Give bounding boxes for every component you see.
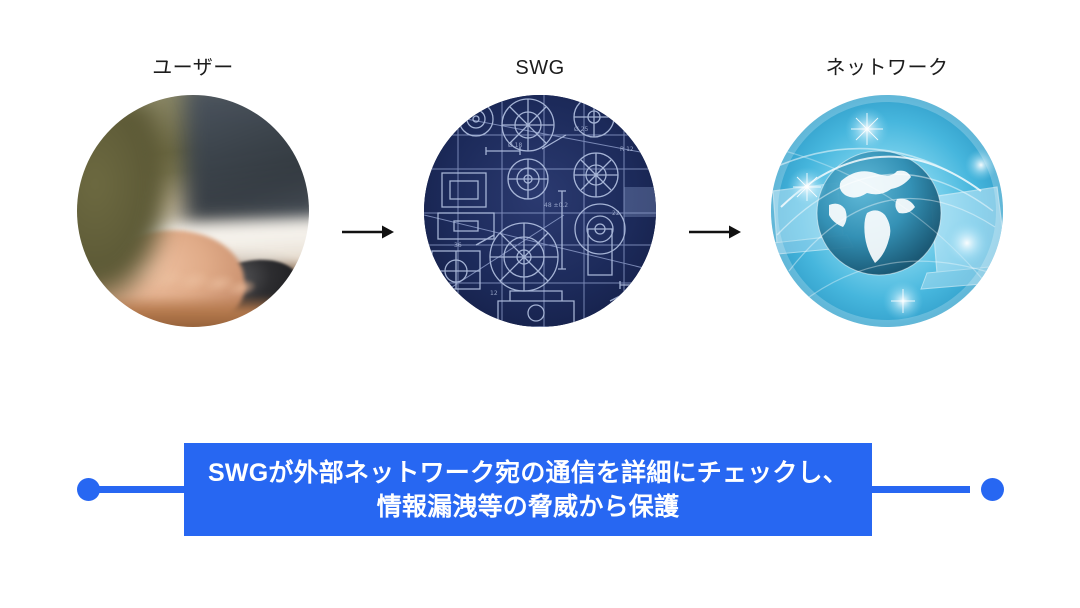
diagram-canvas: ユーザー SWG [0, 0, 1080, 608]
node-image-swg: Ø 25 Ø 18 R 12 48 ±0.2 36 22 3/2 12 [424, 95, 656, 327]
caption-banner: SWGが外部ネットワーク宛の通信を詳細にチェックし、 情報漏洩等の脅威から保護 [184, 443, 872, 536]
connector-line-left [86, 486, 190, 493]
svg-text:R 12: R 12 [620, 146, 634, 153]
flow-node-user: ユーザー [77, 56, 309, 327]
svg-text:3/2: 3/2 [608, 318, 618, 325]
image-blueprint-pattern: Ø 25 Ø 18 R 12 48 ±0.2 36 22 3/2 12 [424, 95, 656, 327]
node-image-user [77, 95, 309, 327]
svg-text:36: 36 [454, 242, 462, 249]
flow-node-swg: SWG [424, 56, 656, 327]
svg-text:12: 12 [490, 290, 498, 297]
caption-banner-text: SWGが外部ネットワーク宛の通信を詳細にチェックし、 情報漏洩等の脅威から保護 [208, 456, 848, 524]
node-label-swg: SWG [424, 56, 656, 80]
svg-text:48 ±0.2: 48 ±0.2 [544, 202, 568, 209]
svg-text:Ø 25: Ø 25 [574, 126, 588, 133]
svg-text:Ø 18: Ø 18 [508, 142, 522, 149]
photo-hand-on-mouse [77, 95, 309, 327]
node-label-user: ユーザー [77, 56, 309, 80]
connector-dot-right [981, 478, 1004, 501]
arrow-right-icon-user-to-swg [342, 223, 394, 241]
image-global-network [771, 95, 1003, 327]
flow-node-network: ネットワーク [771, 56, 1003, 327]
node-label-network: ネットワーク [771, 56, 1003, 80]
svg-text:22: 22 [612, 210, 620, 217]
arrow-right-icon-swg-to-network [689, 223, 741, 241]
node-image-network [771, 95, 1003, 327]
connector-line-right [866, 486, 970, 493]
